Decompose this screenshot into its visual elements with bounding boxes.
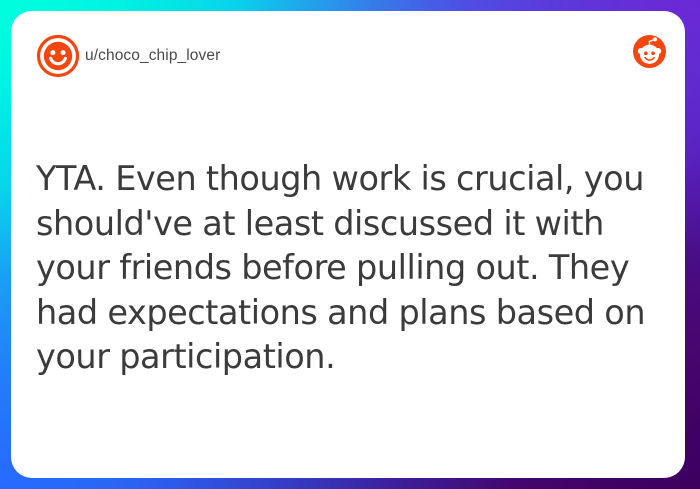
reddit-snoo-icon[interactable] <box>633 35 666 68</box>
screenshot-canvas: u/choco_chip_lover YTA. Even though work… <box>0 0 700 489</box>
reddit-post-card: u/choco_chip_lover YTA. Even though work… <box>11 11 685 478</box>
smiley-face-icon <box>36 34 80 78</box>
post-header: u/choco_chip_lover <box>11 11 685 103</box>
post-author-username[interactable]: u/choco_chip_lover <box>85 47 220 65</box>
post-body-text: YTA. Even though work is crucial, you sh… <box>36 157 658 380</box>
post-body: YTA. Even though work is crucial, you sh… <box>36 157 658 380</box>
